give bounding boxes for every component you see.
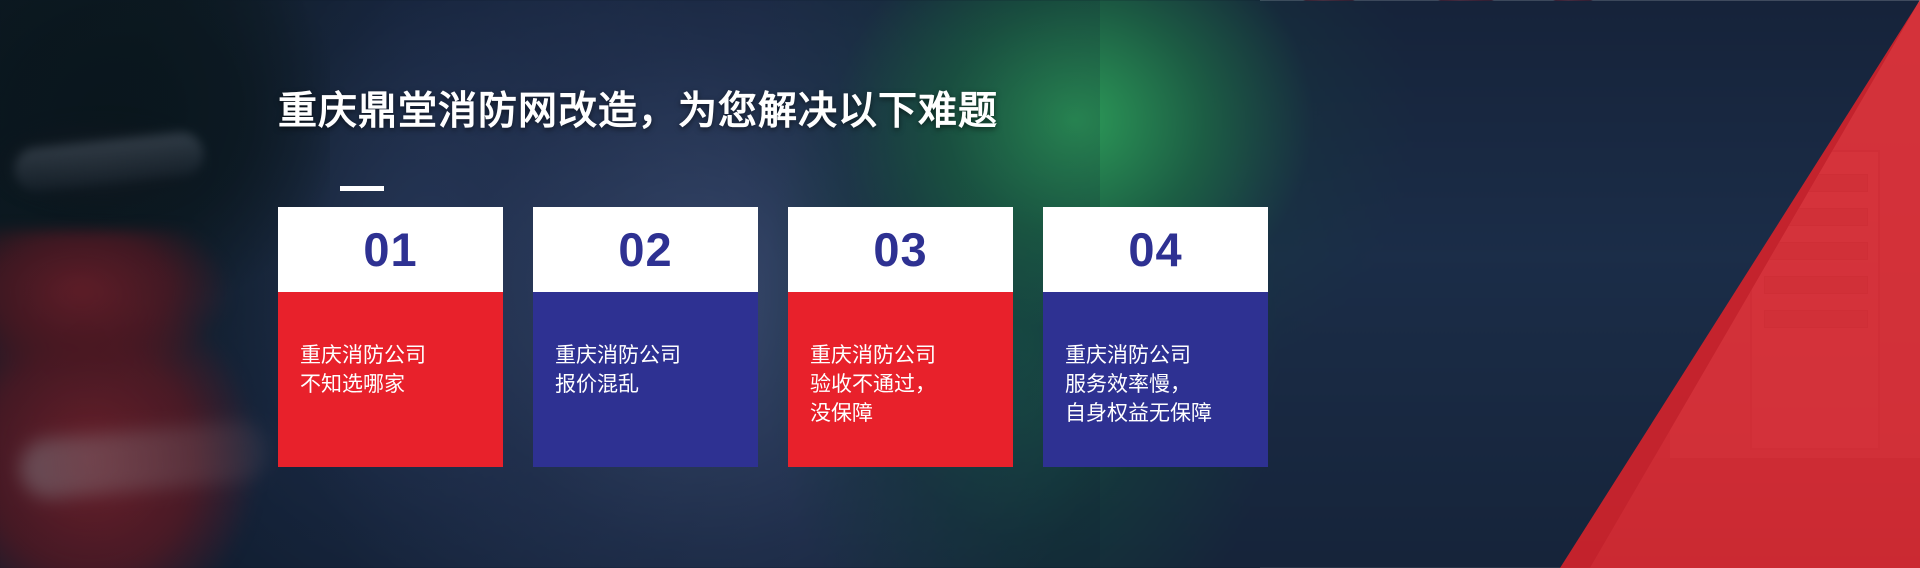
pain-point-card-04[interactable]: 04 重庆消防公司 服务效率慢， 自身权益无保障 (1043, 207, 1268, 467)
pain-point-card-list: 01 重庆消防公司 不知选哪家 02 重庆消防公司 报价混乱 03 (278, 207, 1268, 467)
card-number-block-01: 01 (278, 207, 503, 292)
card-text-03: 重庆消防公司 验收不通过， 没保障 (810, 342, 936, 429)
card-text-01: 重庆消防公司 不知选哪家 (300, 342, 426, 400)
card-body-02: 重庆消防公司 报价混乱 (533, 292, 758, 467)
pain-point-card-01[interactable]: 01 重庆消防公司 不知选哪家 (278, 207, 503, 467)
title-divider (340, 186, 384, 191)
card-number-02: 02 (618, 222, 672, 277)
card-number-03: 03 (873, 222, 927, 277)
banner-content: 重庆鼎堂消防网改造，为您解决以下难题 01 重庆消防公司 不知选哪家 02 重庆… (0, 0, 1920, 568)
hero-banner: 常开 常闭 常闭 常开 常闭 常闭 (0, 0, 1920, 568)
card-number-block-02: 02 (533, 207, 758, 292)
pain-point-card-02[interactable]: 02 重庆消防公司 报价混乱 (533, 207, 758, 467)
card-text-02: 重庆消防公司 报价混乱 (555, 342, 681, 400)
card-body-04: 重庆消防公司 服务效率慢， 自身权益无保障 (1043, 292, 1268, 467)
card-number-block-03: 03 (788, 207, 1013, 292)
pain-point-card-03[interactable]: 03 重庆消防公司 验收不通过， 没保障 (788, 207, 1013, 467)
card-number-04: 04 (1128, 222, 1182, 277)
card-body-03: 重庆消防公司 验收不通过， 没保障 (788, 292, 1013, 467)
card-number-block-04: 04 (1043, 207, 1268, 292)
card-body-01: 重庆消防公司 不知选哪家 (278, 292, 503, 467)
card-text-04: 重庆消防公司 服务效率慢， 自身权益无保障 (1065, 342, 1212, 429)
card-number-01: 01 (363, 222, 417, 277)
banner-title: 重庆鼎堂消防网改造，为您解决以下难题 (278, 88, 998, 137)
